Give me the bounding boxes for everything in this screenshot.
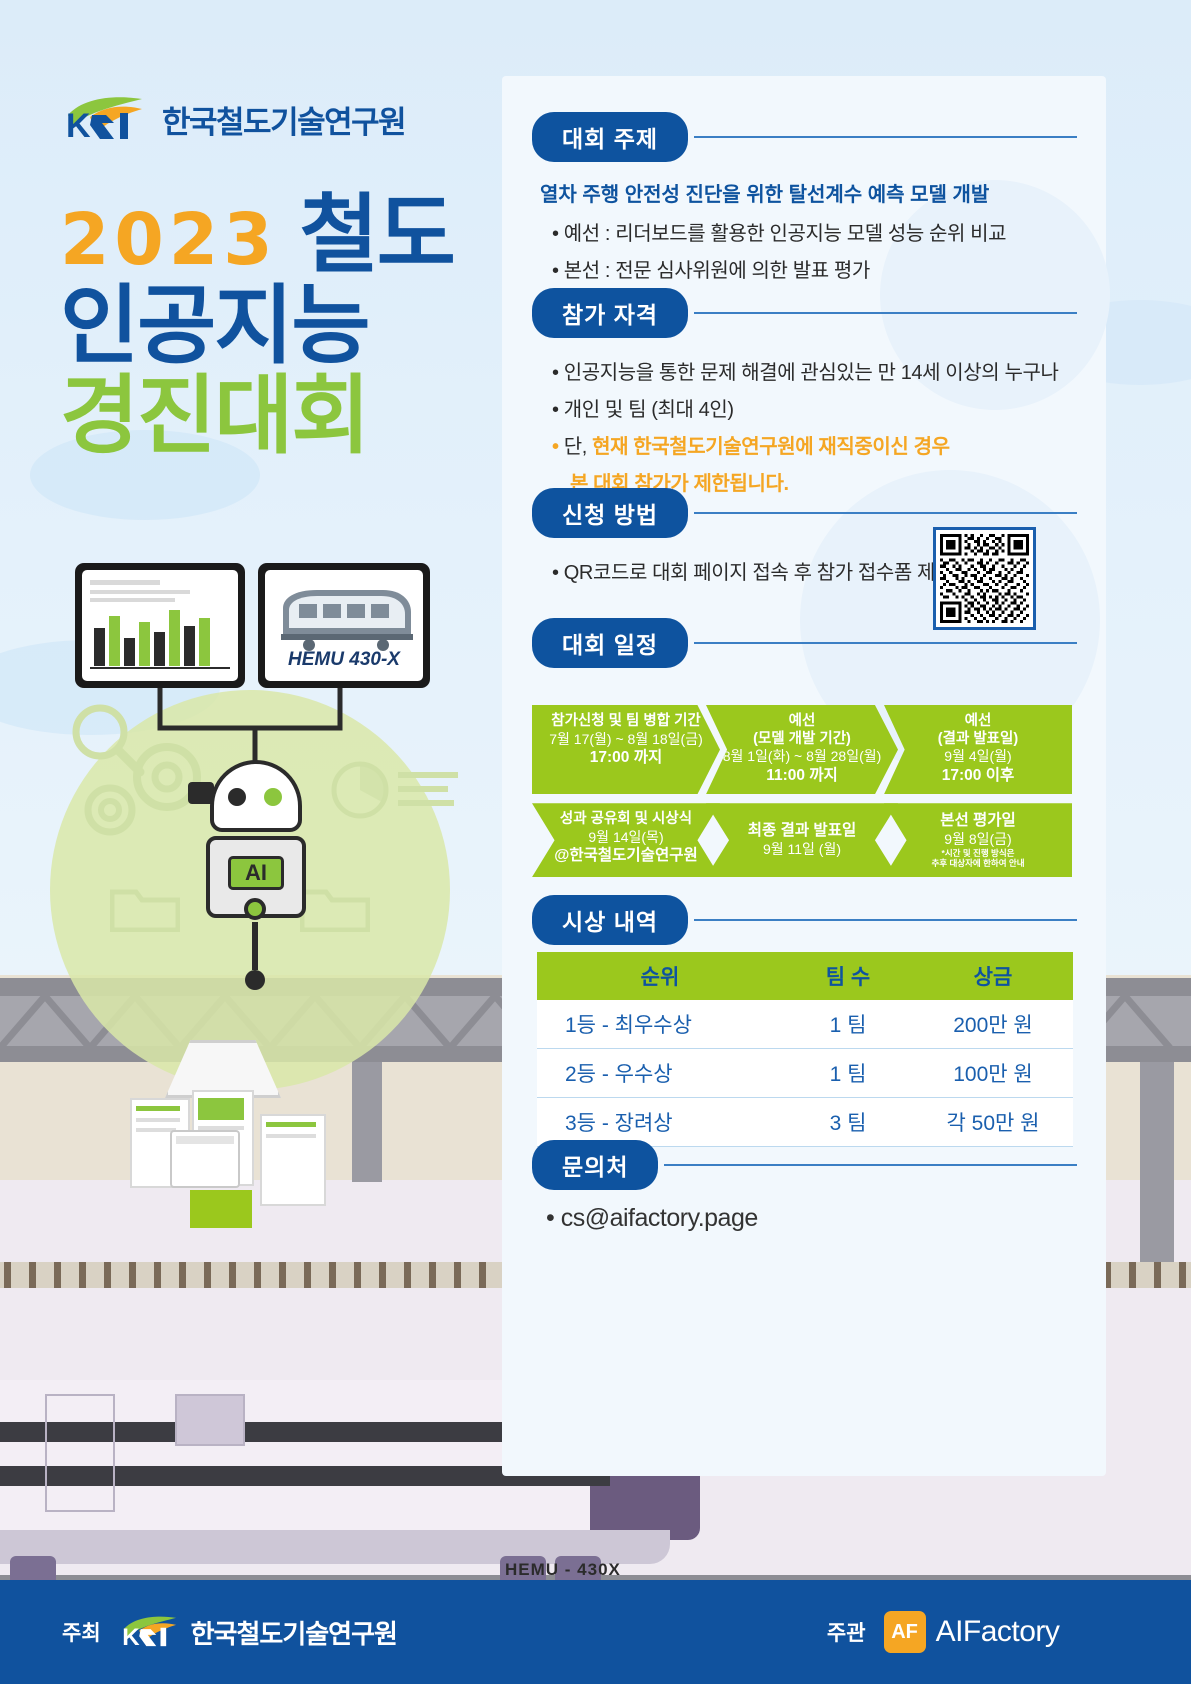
title-line1: 철도: [300, 192, 454, 280]
pill-divider-line: [694, 512, 1077, 514]
prize-rank: 2등 - 우수상: [537, 1049, 783, 1098]
krri-logo-text: 한국철도기술연구원: [162, 97, 405, 142]
prize-header-rank: 순위: [537, 952, 783, 1000]
folder-icon: [110, 880, 180, 932]
poster-title: 2023 철도 인공지능 경진대회: [60, 192, 490, 460]
pill-divider-line: [694, 312, 1077, 314]
eligibility-bullet-text: 인공지능을 통한 문제 해결에 관심있는 만 14세 이상의 누구나: [564, 362, 1059, 384]
ai-robot: AI: [188, 760, 322, 1000]
prize-amount: 200만 원: [913, 1000, 1073, 1049]
schedule-item-title: 예선: [890, 713, 1066, 731]
document-lines-icon: [398, 770, 458, 818]
schedule-item-date: 7월 17(월) ~ 8월 18일(금): [538, 731, 714, 749]
krri-logo-mark: K: [62, 95, 154, 143]
svg-text:K: K: [122, 1624, 140, 1649]
pill-divider-line: [694, 136, 1077, 138]
magnifier-icon: [68, 700, 146, 778]
schedule-item-title: 최종 결과 발표일: [712, 821, 892, 840]
krri-footer-logo-mark: K: [119, 1615, 185, 1649]
prize-rank: 1등 - 최우수상: [537, 1000, 783, 1049]
topic-bullet: • 본선 : 전문 심사위원에 의한 발표 평가: [552, 254, 1077, 283]
schedule-item-title: 성과 공유회 및 시상식: [538, 811, 714, 829]
topic-bullet-text: 본선 : 전문 심사위원에 의한 발표 평가: [564, 260, 870, 282]
schedule-item-footnote: *시간 및 진행 방식은: [890, 848, 1066, 858]
prize-teams: 1 팀: [783, 1000, 913, 1049]
schedule-item-date: 9월 14일(목): [538, 829, 714, 847]
qr-code[interactable]: [933, 527, 1036, 630]
pill-divider-line: [694, 919, 1077, 921]
schedule-item-date: 9월 8일(금): [890, 831, 1066, 849]
organizer-name: AIFactory: [936, 1615, 1060, 1649]
schedule-item: 예선 (모델 개발 기간) 8월 1일(화) ~ 8월 28일(월) 11:00…: [706, 705, 898, 794]
apply-bullet-text: QR코드로 대회 페이지 접속 후 참가 접수폼 제출: [564, 562, 953, 584]
section-contact: 문의처 • cs@aifactory.page: [532, 1140, 1077, 1233]
pill-divider-line: [664, 1164, 1077, 1166]
poster-footer: 주최 K 한국철도기술연구원 주관 AF AIFactory: [0, 1580, 1191, 1684]
contact-email[interactable]: • cs@aifactory.page: [546, 1204, 1077, 1233]
document-pile: [130, 1090, 350, 1230]
schedule-item: 성과 공유회 및 시상식 9월 14일(목) @한국철도기술연구원: [532, 803, 720, 877]
schedule-item-time: 11:00 까지: [712, 766, 892, 785]
topic-bullet-text: 예선 : 리더보드를 활용한 인공지능 모델 성능 순위 비교: [564, 223, 1006, 245]
eligibility-bullet-text: 개인 및 팀 (최대 4인): [564, 399, 734, 421]
organizer-label: 주관: [827, 1617, 866, 1647]
svg-text:K: K: [66, 107, 91, 143]
table-row: 1등 - 최우수상 1 팀 200만 원: [537, 1000, 1073, 1049]
eligibility-bullet: • 개인 및 팀 (최대 4인): [552, 393, 1077, 422]
train-screen: HEMU 430-X: [258, 563, 430, 688]
prize-table-header-row: 순위 팀 수 상금: [537, 952, 1073, 1000]
schedule-item-time: 17:00 이후: [890, 766, 1066, 785]
topic-headline: 열차 주행 안전성 진단을 위한 탈선계수 예측 모델 개발: [540, 178, 1077, 207]
host-name: 한국철도기술연구원: [191, 1614, 397, 1651]
schedule-item-date: 9월 11일 (월): [712, 841, 892, 859]
schedule-row-1: 참가신청 및 팀 병합 기간 7월 17(월) ~ 8월 18일(금) 17:0…: [532, 705, 1078, 794]
host-label: 주최: [62, 1617, 101, 1647]
prize-amount: 100만 원: [913, 1049, 1073, 1098]
prize-table: 순위 팀 수 상금 1등 - 최우수상 1 팀 200만 원 2등 - 우수상 …: [537, 952, 1073, 1147]
aifactory-logo-mark: AF: [884, 1611, 926, 1653]
prize-header-teams: 팀 수: [783, 952, 913, 1000]
pill-apply: 신청 방법: [532, 488, 688, 538]
chart-screen: [75, 563, 245, 688]
title-line3: 경진대회: [60, 373, 490, 461]
prize-teams: 1 팀: [783, 1049, 913, 1098]
schedule-item-footnote: 추후 대상자에 한하여 안내: [890, 858, 1066, 868]
bridge-pillar: [352, 1062, 382, 1182]
section-eligibility: 참가 자격 • 인공지능을 통한 문제 해결에 관심있는 만 14세 이상의 누…: [532, 288, 1077, 496]
schedule-item-title: 예선: [712, 713, 892, 731]
table-row: 2등 - 우수상 1 팀 100만 원: [537, 1049, 1073, 1098]
eligibility-note: • 단, 현재 한국철도기술연구원에 재직중이신 경우: [552, 430, 1077, 459]
schedule-item-subtitle: (모델 개발 기간): [712, 731, 892, 749]
schedule-item-date: 8월 1일(화) ~ 8월 28일(월): [712, 748, 892, 766]
title-year: 2023: [60, 198, 278, 281]
schedule-item-title: 참가신청 및 팀 병합 기간: [538, 713, 714, 731]
krri-logo: K 한국철도기술연구원: [62, 95, 405, 143]
schedule-item-subtitle: (결과 발표일): [890, 731, 1066, 749]
prize-header-amount: 상금: [913, 952, 1073, 1000]
train-panel-label: HEMU 430-X: [265, 649, 423, 671]
schedule-item: 최종 결과 발표일 9월 11일 (월): [706, 803, 898, 877]
schedule-item-title: 본선 평가일: [890, 811, 1066, 830]
station-train-label: HEMU - 430X: [505, 1560, 621, 1580]
schedule-item-venue: @한국철도기술연구원: [538, 846, 714, 865]
eligibility-bullet: • 인공지능을 통한 문제 해결에 관심있는 만 14세 이상의 누구나: [552, 356, 1077, 385]
ai-chip-label: AI: [245, 860, 267, 886]
schedule-row-2: 성과 공유회 및 시상식 9월 14일(목) @한국철도기술연구원 최종 결과 …: [532, 803, 1078, 877]
schedule-item: 예선 (결과 발표일) 9월 4일(월) 17:00 이후: [884, 705, 1072, 794]
eligibility-note-prefix: 단,: [564, 436, 592, 458]
title-line2: 인공지능: [60, 283, 490, 371]
section-prizes: 시상 내역: [532, 895, 1077, 945]
pill-divider-line: [694, 642, 1077, 644]
pill-prizes: 시상 내역: [532, 895, 688, 945]
eligibility-note-highlight: 현재 한국철도기술연구원에 재직중이신 경우: [592, 436, 949, 458]
pill-contact: 문의처: [532, 1140, 658, 1190]
section-topic: 대회 주제 열차 주행 안전성 진단을 위한 탈선계수 예측 모델 개발 • 예…: [532, 112, 1077, 283]
topic-bullet: • 예선 : 리더보드를 활용한 인공지능 모델 성능 순위 비교: [552, 217, 1077, 246]
section-schedule: 대회 일정: [532, 618, 1077, 668]
schedule-item-time: 17:00 까지: [538, 748, 714, 767]
schedule-item: 참가신청 및 팀 병합 기간 7월 17(월) ~ 8월 18일(금) 17:0…: [532, 705, 720, 794]
contact-email-text: cs@aifactory.page: [561, 1204, 758, 1232]
schedule-item: 본선 평가일 9월 8일(금) *시간 및 진행 방식은 추후 대상자에 한하여…: [884, 803, 1072, 877]
pill-eligibility: 참가 자격: [532, 288, 688, 338]
pill-schedule: 대회 일정: [532, 618, 688, 668]
schedule-chevrons: 참가신청 및 팀 병합 기간 7월 17(월) ~ 8월 18일(금) 17:0…: [532, 705, 1078, 877]
pill-topic: 대회 주제: [532, 112, 688, 162]
schedule-item-date: 9월 4일(월): [890, 748, 1066, 766]
